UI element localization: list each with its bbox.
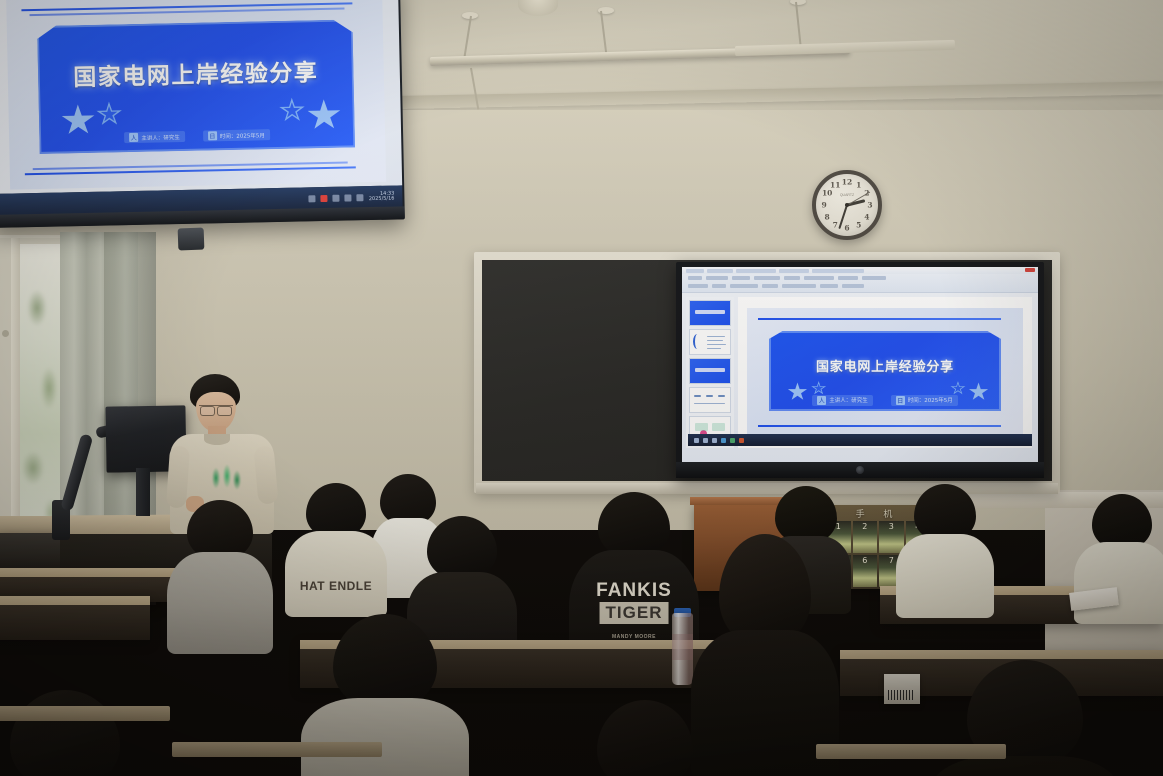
slide-meta-chip: 人 主讲人：研究生 bbox=[812, 395, 873, 406]
taskbar-clock[interactable]: 14:33 2025/5/16 bbox=[369, 191, 395, 203]
ribbon-chip bbox=[862, 276, 886, 280]
phone-pocket[interactable]: 6 bbox=[853, 555, 878, 587]
student-mid-1 bbox=[166, 500, 274, 650]
slide-top-accent bbox=[758, 318, 1001, 320]
presenter-shirt-graphic bbox=[208, 460, 244, 494]
clock-numeral: 6 bbox=[844, 223, 849, 232]
phone-pocket[interactable]: 2 bbox=[853, 521, 878, 553]
student-head bbox=[187, 500, 253, 560]
student-body bbox=[896, 534, 994, 618]
projector-mount-arm bbox=[178, 228, 205, 251]
student-head bbox=[719, 534, 811, 644]
thumb-line bbox=[712, 423, 725, 431]
slide-meta-text: 主讲人：研究生 bbox=[141, 133, 180, 142]
volume-icon[interactable] bbox=[345, 194, 352, 201]
bench-left bbox=[0, 706, 170, 721]
thumb-line bbox=[694, 403, 725, 404]
slide-meta-chip-date: 日 时间：2025年5月 bbox=[203, 129, 270, 141]
clock-numeral: 11 bbox=[830, 181, 840, 190]
ribbon-chip bbox=[712, 284, 726, 288]
ribbon-row-bottom bbox=[682, 282, 1038, 290]
slide-stage[interactable]: 国家电网上岸经验分享 人 主讲人：研究生 日 时间： bbox=[738, 297, 1032, 448]
student-body bbox=[285, 531, 387, 617]
slide-thumbnail[interactable] bbox=[689, 358, 731, 384]
projection-screen[interactable]: 国家电网上岸经验分享 人 主讲人：研究生 日 时间：2025年5月 bbox=[0, 0, 405, 228]
ribbon-chip bbox=[820, 284, 838, 288]
window-foliage bbox=[21, 268, 61, 528]
thumb-line bbox=[707, 344, 726, 345]
network-icon[interactable] bbox=[333, 194, 340, 201]
student-head bbox=[597, 700, 693, 776]
ribbon-chip bbox=[730, 284, 758, 288]
thumb-line bbox=[718, 395, 725, 397]
slide-title-text: 国家电网上岸经验分享 bbox=[38, 53, 354, 94]
star-icon bbox=[950, 381, 966, 396]
slide-title-panel: 国家电网上岸经验分享 人 主讲人：研究生 日 时间： bbox=[769, 331, 1001, 412]
camera-icon bbox=[856, 466, 864, 474]
thumb-title-bar bbox=[695, 310, 725, 314]
clock-numeral: 5 bbox=[856, 220, 861, 229]
thumb-line bbox=[707, 336, 725, 337]
slide-thumbnail[interactable] bbox=[689, 329, 731, 355]
monitor-column bbox=[136, 468, 150, 516]
slide-meta-row: 人 主讲人：研究生 日 时间：2025年5月 bbox=[769, 395, 1001, 406]
student-body bbox=[167, 552, 273, 654]
clock-brand: QUARTZ bbox=[840, 193, 854, 197]
window-latch[interactable] bbox=[2, 330, 9, 337]
clock-numeral: 1 bbox=[856, 181, 861, 190]
folder-icon[interactable] bbox=[712, 438, 717, 443]
ime-icon[interactable] bbox=[357, 194, 364, 201]
student-shirt-text-fankis: FANKIS bbox=[596, 580, 672, 602]
taskbar-clock-date: 2025/5/16 bbox=[369, 197, 395, 203]
student-back-4 bbox=[895, 484, 995, 610]
clock-center-pin bbox=[845, 203, 849, 207]
ribbon-chip bbox=[706, 276, 728, 280]
bench-center bbox=[172, 742, 382, 757]
notification-icon[interactable] bbox=[321, 194, 328, 201]
star-icon bbox=[811, 381, 827, 396]
titlebar-chip bbox=[812, 269, 864, 273]
thumb-curve bbox=[693, 334, 702, 349]
student-front-5 bbox=[560, 700, 730, 776]
powerpoint-ribbon[interactable] bbox=[682, 274, 1038, 293]
slide-thumbnail[interactable] bbox=[689, 387, 731, 413]
desk-row-mid-left bbox=[0, 596, 150, 640]
ribbon-chip bbox=[754, 276, 780, 280]
student-body bbox=[931, 756, 1119, 776]
clock-numeral: 9 bbox=[821, 201, 826, 210]
person-icon: 人 bbox=[129, 133, 138, 142]
tray-icon[interactable] bbox=[309, 195, 316, 202]
ribbon-chip bbox=[838, 276, 858, 280]
ribbon-chip bbox=[782, 284, 816, 288]
slide-title-panel: 国家电网上岸经验分享 人 主讲人：研究生 日 时间：2025年5月 bbox=[37, 19, 355, 154]
powerpoint-titlebar bbox=[682, 267, 1038, 274]
slide-meta-text: 时间：2025年5月 bbox=[220, 131, 265, 140]
student-shirt-text-tiger: TIGER bbox=[600, 602, 669, 624]
ribbon-chip bbox=[732, 276, 750, 280]
student-body bbox=[1074, 542, 1163, 624]
titlebar-chip bbox=[736, 269, 776, 273]
calendar-icon: 日 bbox=[208, 131, 217, 140]
presenter-collar bbox=[204, 434, 230, 445]
projection-surface: 国家电网上岸经验分享 人 主讲人：研究生 日 时间：2025年5月 bbox=[0, 0, 402, 194]
ribbon-chip bbox=[688, 284, 708, 288]
titlebar-chip bbox=[707, 269, 733, 273]
ribbon-chip bbox=[688, 276, 702, 280]
clock-numeral: 8 bbox=[825, 212, 830, 221]
thumb-line bbox=[706, 395, 713, 397]
student-head bbox=[598, 492, 670, 558]
close-icon[interactable] bbox=[1025, 268, 1035, 272]
student-head bbox=[333, 614, 437, 710]
calendar-icon: 日 bbox=[896, 396, 905, 405]
star-icon bbox=[95, 101, 123, 128]
student-back-2: HAT ENDLE bbox=[284, 483, 388, 613]
titlebar-chip bbox=[779, 269, 809, 273]
titlebar-chip bbox=[686, 269, 704, 273]
thumb-line bbox=[694, 395, 701, 397]
slide-title-text: 国家电网上岸经验分享 bbox=[769, 356, 1001, 375]
slide-thumbnail[interactable] bbox=[689, 300, 731, 326]
ribbon-chip bbox=[784, 276, 800, 280]
slide-meta-text: 时间：2025年5月 bbox=[908, 396, 953, 404]
ribbon-chip bbox=[804, 276, 834, 280]
clock-numeral: 7 bbox=[833, 220, 838, 229]
clock-numeral: 12 bbox=[842, 178, 852, 187]
student-head bbox=[427, 516, 497, 580]
barcode-icon bbox=[888, 690, 914, 700]
presenter-right-arm bbox=[254, 445, 279, 505]
current-slide: 国家电网上岸经验分享 人 主讲人：研究生 日 时间： bbox=[747, 308, 1023, 438]
slide-thumbnail-panel[interactable] bbox=[686, 297, 734, 448]
student-shirt-text: HAT ENDLE bbox=[300, 579, 372, 593]
powerpoint-icon[interactable] bbox=[739, 438, 744, 443]
slide-bottom-accent bbox=[758, 425, 1001, 427]
search-icon[interactable] bbox=[703, 438, 708, 443]
student-head bbox=[10, 690, 120, 776]
desk-box bbox=[884, 674, 920, 704]
ribbon-chip bbox=[762, 284, 778, 288]
thumb-line bbox=[707, 348, 721, 349]
clock-numeral: 3 bbox=[867, 201, 872, 210]
start-icon[interactable] bbox=[694, 438, 699, 443]
thumb-line bbox=[707, 340, 723, 341]
person-icon: 人 bbox=[817, 396, 826, 405]
windows-taskbar[interactable] bbox=[688, 434, 1032, 446]
bench-right bbox=[816, 744, 1006, 759]
slide-meta-text: 主讲人：研究生 bbox=[829, 396, 868, 404]
slide-meta-chip: 日 时间：2025年5月 bbox=[891, 395, 958, 406]
thumb-line bbox=[695, 423, 708, 431]
classroom-scene: 国家电网上岸经验分享 人 主讲人：研究生 日 时间： bbox=[0, 0, 1163, 776]
thumb-title-bar bbox=[695, 368, 725, 372]
clock-numeral: 4 bbox=[864, 212, 869, 221]
glasses-icon bbox=[199, 405, 233, 414]
student-front-4 bbox=[0, 690, 160, 776]
interactive-smart-display[interactable]: 国家电网上岸经验分享 人 主讲人：研究生 日 时间： bbox=[676, 262, 1044, 478]
ribbon-row-top bbox=[682, 274, 1038, 282]
desk-panel bbox=[0, 605, 150, 640]
app-icon[interactable] bbox=[730, 438, 735, 443]
star-icon bbox=[278, 97, 306, 124]
projected-slide: 国家电网上岸经验分享 人 主讲人：研究生 日 时间：2025年5月 bbox=[6, 0, 385, 190]
smartboard-screen[interactable]: 国家电网上岸经验分享 人 主讲人：研究生 日 时间： bbox=[682, 267, 1038, 462]
ribbon-chip bbox=[842, 284, 864, 288]
student-body bbox=[301, 698, 469, 776]
slide-meta-chip-presenter: 人 主讲人：研究生 bbox=[124, 131, 185, 143]
browser-icon[interactable] bbox=[721, 438, 726, 443]
clock-numeral: 10 bbox=[822, 189, 832, 198]
wall-clock: 12 1 2 3 4 5 6 7 8 9 10 11 QUARTZ bbox=[812, 170, 882, 240]
